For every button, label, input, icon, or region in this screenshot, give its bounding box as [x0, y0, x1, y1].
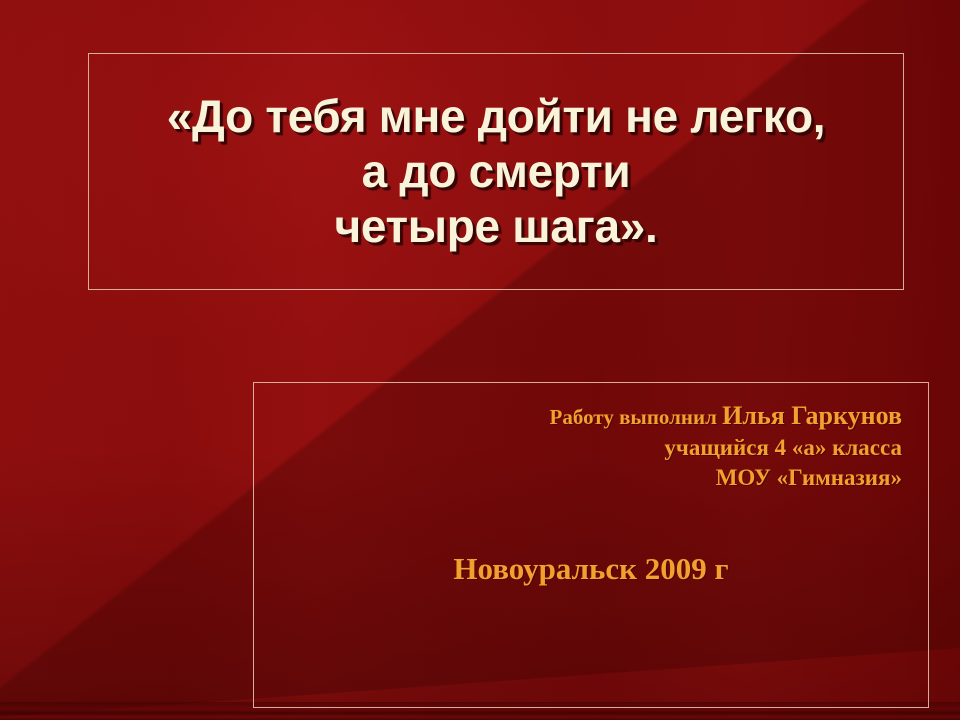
place-year-line: Новоуральск 2009 г	[280, 551, 902, 587]
title-line-3: четыре шага».	[95, 199, 897, 254]
slide-title: «До тебя мне дойти не легко, а до смерти…	[89, 89, 903, 253]
author-name: Илья Гаркунов	[722, 401, 902, 430]
author-line: Работу выполнил Илья Гаркунов	[280, 399, 902, 433]
school-line: МОУ «Гимназия»	[280, 463, 902, 493]
credits-block: Работу выполнил Илья Гаркунов учащийся 4…	[280, 399, 902, 493]
credits-placeholder[interactable]: Работу выполнил Илья Гаркунов учащийся 4…	[253, 382, 929, 708]
class-line: учащийся 4 «а» класса	[280, 433, 902, 463]
author-prefix: Работу выполнил	[550, 405, 723, 429]
presentation-slide: «До тебя мне дойти не легко, а до смерти…	[0, 0, 960, 720]
title-line-1: «До тебя мне дойти не легко,	[95, 89, 897, 144]
title-placeholder[interactable]: «До тебя мне дойти не легко, а до смерти…	[88, 53, 904, 290]
title-line-2: а до смерти	[95, 144, 897, 199]
